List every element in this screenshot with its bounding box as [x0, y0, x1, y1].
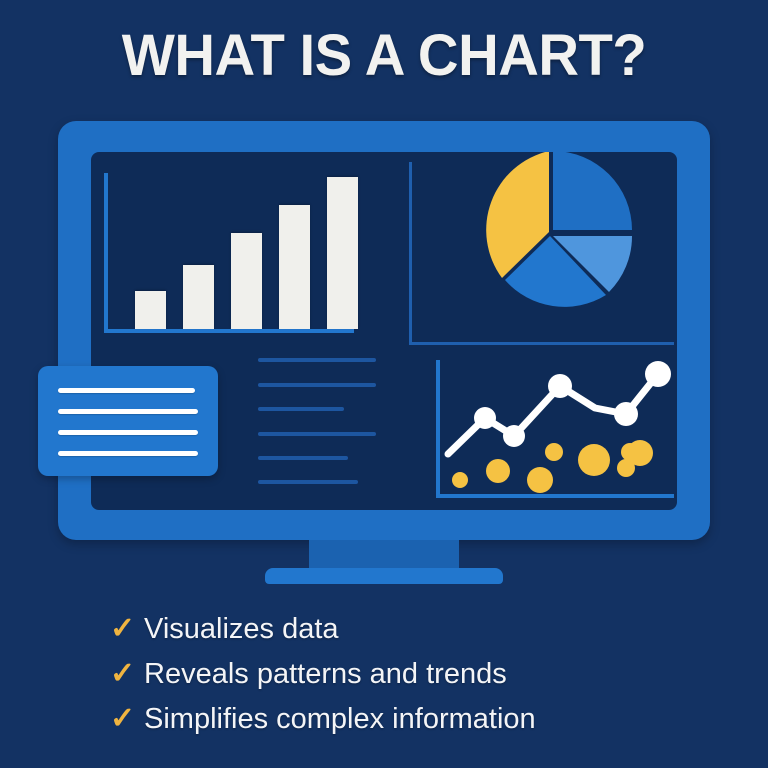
text-line	[258, 383, 376, 387]
infographic-poster: WHAT IS A CHART?	[0, 0, 768, 768]
bar	[183, 265, 214, 329]
bar	[135, 291, 166, 329]
scatter-bubble	[578, 444, 610, 476]
scatter-bubble	[545, 443, 563, 461]
line-marker	[614, 402, 638, 426]
monitor-stand-base	[265, 568, 503, 584]
pie-slice-a	[553, 152, 632, 230]
card-line	[58, 409, 198, 414]
card-line	[58, 451, 198, 456]
line-chart-svg	[430, 356, 677, 504]
panel-divider-vertical	[409, 162, 412, 344]
bar-chart-y-axis	[104, 173, 108, 333]
bar-chart	[104, 165, 396, 333]
bar	[231, 233, 262, 329]
check-icon: ✓	[110, 704, 144, 734]
scatter-bubble	[527, 467, 553, 493]
list-item: ✓ Visualizes data	[110, 606, 710, 651]
text-line	[258, 432, 376, 436]
pie-chart	[466, 152, 636, 318]
bar	[327, 177, 358, 329]
list-item-label: Reveals patterns and trends	[144, 657, 507, 691]
text-line	[258, 407, 344, 411]
scatter-bubble	[452, 472, 468, 488]
line-scatter-chart	[430, 356, 677, 504]
text-line	[258, 480, 358, 484]
line-marker	[474, 407, 496, 429]
check-icon: ✓	[110, 614, 144, 644]
benefit-list: ✓ Visualizes data ✓ Reveals patterns and…	[110, 606, 710, 741]
line-marker	[645, 361, 671, 387]
text-line	[258, 456, 348, 460]
panel-divider-horizontal	[409, 342, 674, 345]
list-item-label: Visualizes data	[144, 612, 339, 646]
text-line	[258, 358, 376, 362]
card-line	[58, 430, 198, 435]
info-card[interactable]	[38, 366, 218, 476]
list-item: ✓ Reveals patterns and trends	[110, 651, 710, 696]
pie-chart-svg	[466, 152, 636, 318]
page-title: WHAT IS A CHART?	[12, 24, 757, 88]
line-marker	[503, 425, 525, 447]
scatter-bubble	[627, 440, 653, 466]
document-text-lines	[258, 358, 398, 488]
bar-chart-x-axis	[104, 329, 354, 333]
bar	[279, 205, 310, 329]
card-line	[58, 388, 195, 393]
list-item: ✓ Simplifies complex information	[110, 696, 710, 741]
scatter-bubble	[486, 459, 510, 483]
line-marker	[548, 374, 572, 398]
list-item-label: Simplifies complex information	[144, 702, 536, 736]
check-icon: ✓	[110, 659, 144, 689]
